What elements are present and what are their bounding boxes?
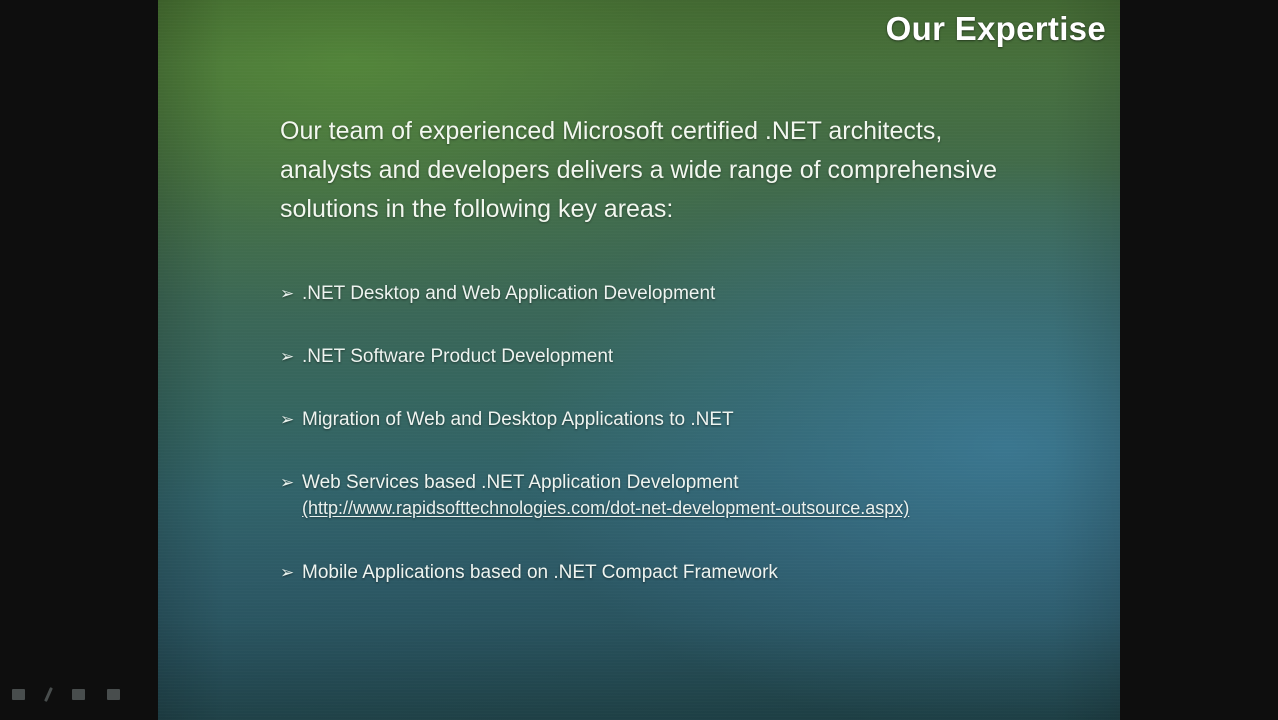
arrow-bullet-icon: ➢ xyxy=(280,470,302,495)
dot-net-outsource-link[interactable]: (http://www.rapidsofttechnologies.com/do… xyxy=(302,495,909,522)
list-item-body: Web Services based .NET Application Deve… xyxy=(302,470,909,522)
list-item: ➢ .NET Software Product Development xyxy=(280,344,1080,369)
list-item: ➢ .NET Desktop and Web Application Devel… xyxy=(280,281,1080,306)
letterbox-left xyxy=(0,0,158,720)
list-item: ➢ Migration of Web and Desktop Applicati… xyxy=(280,407,1080,432)
list-item: ➢ Mobile Applications based on .NET Comp… xyxy=(280,560,1080,585)
bullet-list: ➢ .NET Desktop and Web Application Devel… xyxy=(280,281,1080,585)
presentation-slide: Our Expertise Our team of experienced Mi… xyxy=(158,0,1120,720)
list-item-label: Web Services based .NET Application Deve… xyxy=(302,472,739,493)
intro-paragraph: Our team of experienced Microsoft certif… xyxy=(280,112,1025,229)
list-item-label: .NET Software Product Development xyxy=(302,344,613,369)
fullscreen-icon[interactable] xyxy=(107,689,120,700)
volume-icon[interactable] xyxy=(72,689,85,700)
progress-slash-icon[interactable] xyxy=(44,687,53,702)
page-title: Our Expertise xyxy=(886,10,1106,48)
player-controls[interactable] xyxy=(12,687,120,702)
list-item: ➢ Web Services based .NET Application De… xyxy=(280,470,1080,522)
arrow-bullet-icon: ➢ xyxy=(280,281,302,306)
arrow-bullet-icon: ➢ xyxy=(280,560,302,585)
list-item-label: Mobile Applications based on .NET Compac… xyxy=(302,560,778,585)
play-icon[interactable] xyxy=(12,689,25,700)
list-item-label: Migration of Web and Desktop Application… xyxy=(302,407,734,432)
list-item-label: .NET Desktop and Web Application Develop… xyxy=(302,281,715,306)
slide-body: Our team of experienced Microsoft certif… xyxy=(280,112,1080,623)
letterbox-right xyxy=(1120,0,1278,720)
arrow-bullet-icon: ➢ xyxy=(280,407,302,432)
video-player-stage: Our Expertise Our team of experienced Mi… xyxy=(0,0,1278,720)
arrow-bullet-icon: ➢ xyxy=(280,344,302,369)
